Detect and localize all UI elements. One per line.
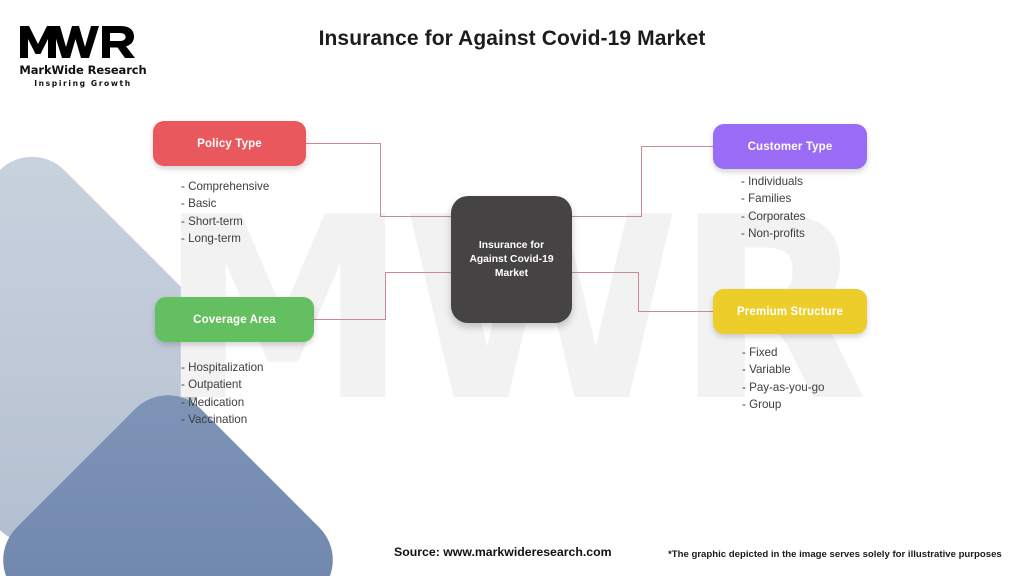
- connector-coverage-v: [385, 272, 386, 320]
- category-list-policy-type: - Comprehensive - Basic - Short-term - L…: [181, 178, 269, 248]
- brand-name: MarkWide Research: [18, 63, 148, 77]
- connector-policy-h1: [306, 143, 381, 144]
- hub-node[interactable]: Insurance for Against Covid-19 Market: [451, 196, 572, 323]
- list-item: - Individuals: [741, 173, 805, 190]
- list-item: - Basic: [181, 195, 269, 212]
- infographic-canvas: MWR MarkWide Research Inspiring Growth I…: [0, 0, 1024, 576]
- category-label-premium-structure: Premium Structure: [737, 306, 843, 318]
- brand-tagline: Inspiring Growth: [18, 79, 148, 88]
- category-label-customer-type: Customer Type: [748, 141, 833, 153]
- list-item: - Variable: [742, 361, 824, 378]
- list-item: - Outpatient: [181, 376, 263, 393]
- connector-policy-h2: [380, 216, 452, 217]
- connector-customer-v: [641, 146, 642, 217]
- hub-label: Insurance for Against Covid-19 Market: [459, 239, 564, 281]
- category-label-policy-type: Policy Type: [197, 138, 262, 150]
- category-box-customer-type[interactable]: Customer Type: [713, 124, 867, 169]
- page-title: Insurance for Against Covid-19 Market: [0, 27, 1024, 51]
- list-item: - Pay-as-you-go: [742, 379, 824, 396]
- category-label-coverage-area: Coverage Area: [193, 314, 276, 326]
- connector-premium-v: [638, 272, 639, 312]
- list-item: - Fixed: [742, 344, 824, 361]
- list-item: - Vaccination: [181, 411, 263, 428]
- disclaimer-text: *The graphic depicted in the image serve…: [668, 549, 1002, 560]
- connector-coverage-h1: [314, 319, 386, 320]
- decorative-shape-dark: [0, 376, 352, 576]
- source-text: Source: www.markwideresearch.com: [394, 545, 612, 559]
- list-item: - Hospitalization: [181, 359, 263, 376]
- category-box-premium-structure[interactable]: Premium Structure: [713, 289, 867, 334]
- connector-premium-h1: [571, 272, 639, 273]
- connector-customer-h1: [571, 216, 642, 217]
- list-item: - Group: [742, 396, 824, 413]
- list-item: - Short-term: [181, 213, 269, 230]
- list-item: - Non-profits: [741, 225, 805, 242]
- connector-coverage-h2: [385, 272, 452, 273]
- connector-policy-v: [380, 143, 381, 217]
- list-item: - Medication: [181, 394, 263, 411]
- category-box-policy-type[interactable]: Policy Type: [153, 121, 306, 166]
- list-item: - Long-term: [181, 230, 269, 247]
- connector-customer-h2: [641, 146, 714, 147]
- category-list-premium-structure: - Fixed - Variable - Pay-as-you-go - Gro…: [742, 344, 824, 414]
- category-list-coverage-area: - Hospitalization - Outpatient - Medicat…: [181, 359, 263, 429]
- connector-premium-h2: [638, 311, 714, 312]
- list-item: - Comprehensive: [181, 178, 269, 195]
- category-list-customer-type: - Individuals - Families - Corporates - …: [741, 173, 805, 243]
- category-box-coverage-area[interactable]: Coverage Area: [155, 297, 314, 342]
- list-item: - Families: [741, 190, 805, 207]
- list-item: - Corporates: [741, 208, 805, 225]
